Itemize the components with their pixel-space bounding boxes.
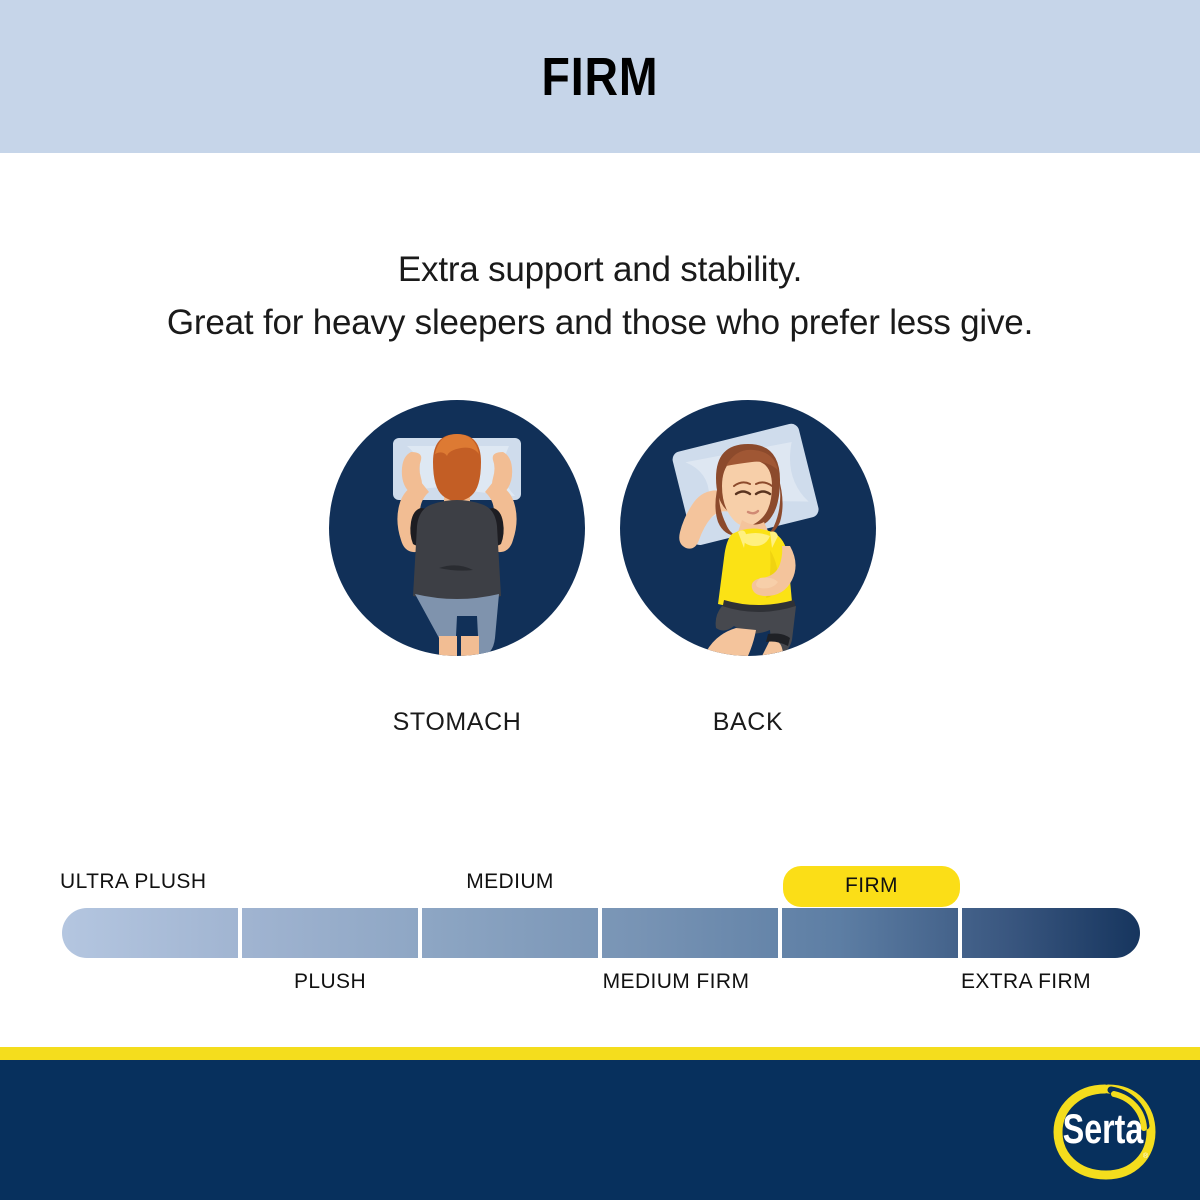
firmness-label-plush[interactable]: PLUSH	[242, 970, 418, 994]
firmness-segment-medium-firm[interactable]	[602, 908, 778, 958]
serta-wordmark: Serta	[1063, 1105, 1144, 1152]
firmness-label-ultra-plush[interactable]: ULTRA PLUSH	[60, 870, 206, 894]
stomach-sleeper-icon	[329, 400, 585, 656]
firmness-segment-extra-firm[interactable]	[962, 908, 1140, 958]
sleep-position-back: BACK	[608, 400, 888, 737]
firmness-label-extra-firm[interactable]: EXTRA FIRM	[938, 970, 1114, 994]
firmness-label-medium-firm[interactable]: MEDIUM FIRM	[588, 970, 764, 994]
firmness-segment-plush[interactable]	[242, 908, 418, 958]
subtitle: Extra support and stability. Great for h…	[0, 243, 1200, 349]
header-banner: FIRM	[0, 0, 1200, 153]
back-sleeper-icon	[620, 400, 876, 656]
sleep-position-group: STOMACH	[0, 400, 1200, 750]
firmness-segment-medium[interactable]	[422, 908, 598, 958]
firmness-label-firm-active[interactable]: FIRM	[783, 866, 960, 907]
firmness-segment-firm[interactable]	[782, 908, 958, 958]
firmness-scale: ULTRA PLUSH PLUSH MEDIUM MEDIUM FIRM FIR…	[0, 860, 1200, 1010]
sleep-position-label-stomach: STOMACH	[317, 708, 597, 737]
footer-bar: Serta ®	[0, 1060, 1200, 1200]
registered-mark-icon: ®	[1143, 1152, 1149, 1160]
footer-accent-rule	[0, 1047, 1200, 1060]
firmness-label-medium[interactable]: MEDIUM	[422, 870, 598, 894]
sleep-position-stomach: STOMACH	[317, 400, 597, 737]
subtitle-line-1: Extra support and stability.	[0, 243, 1200, 296]
firmness-segment-ultra-plush[interactable]	[62, 908, 238, 958]
page-title: FIRM	[542, 46, 659, 108]
subtitle-line-2: Great for heavy sleepers and those who p…	[0, 296, 1200, 349]
firmness-scale-bar	[62, 908, 1140, 958]
sleep-position-label-back: BACK	[608, 708, 888, 737]
serta-logo: Serta ®	[1048, 1082, 1158, 1182]
firmness-infographic: FIRM Extra support and stability. Great …	[0, 0, 1200, 1200]
